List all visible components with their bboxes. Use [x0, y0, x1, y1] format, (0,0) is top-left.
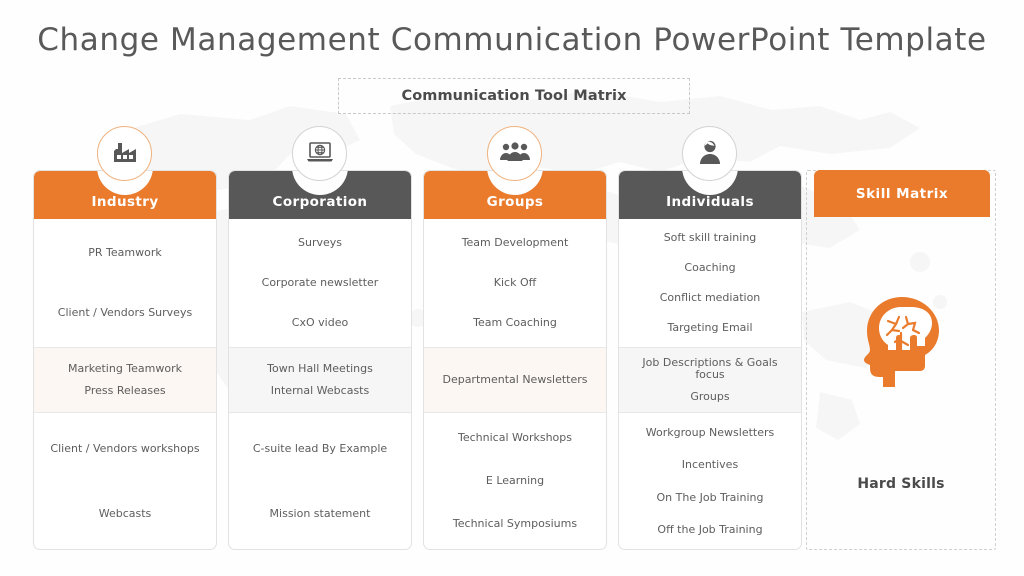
column-body: PR Teamwork Client / Vendors Surveys Mar… — [34, 219, 216, 550]
icon-circle-corporation[interactable] — [292, 126, 347, 181]
skill-matrix-footer: Hard Skills — [807, 476, 995, 492]
factory-icon — [112, 141, 138, 167]
list-item: PR Teamwork — [88, 247, 161, 259]
list-item: Team Development — [462, 237, 569, 249]
icon-circle-individuals[interactable] — [682, 126, 737, 181]
skill-matrix-header-label: Skill Matrix — [856, 186, 948, 202]
column-body: Soft skill training Coaching Conflict me… — [619, 219, 801, 550]
list-item: Client / Vendors Surveys — [58, 307, 192, 319]
subtitle-label: Communication Tool Matrix — [401, 88, 626, 104]
slide-canvas: Change Management Communication PowerPoi… — [0, 0, 1024, 576]
list-item: On The Job Training — [657, 492, 764, 504]
column-segment-top: Team Development Kick Off Team Coaching — [424, 219, 606, 347]
icon-circle-industry[interactable] — [97, 126, 152, 181]
list-item: Surveys — [298, 237, 342, 249]
group-people-icon — [500, 142, 530, 166]
list-item: Kick Off — [494, 277, 536, 289]
subtitle-box: Communication Tool Matrix — [338, 78, 690, 114]
column-header-label: Industry — [91, 194, 158, 210]
column-body: Team Development Kick Off Team Coaching … — [424, 219, 606, 550]
list-item: Off the Job Training — [657, 524, 762, 536]
head-brain-icon — [807, 293, 995, 389]
list-item: Mission statement — [270, 508, 371, 520]
column-individuals[interactable]: Individuals Soft skill training Coaching… — [618, 170, 802, 550]
list-item: Departmental Newsletters — [442, 374, 587, 386]
list-item: Client / Vendors workshops — [50, 443, 199, 455]
column-segment-highlight: Marketing Teamwork Press Releases — [34, 347, 216, 413]
column-segment-top: Surveys Corporate newsletter CxO video — [229, 219, 411, 347]
column-groups[interactable]: Groups Team Development Kick Off Team Co… — [423, 170, 607, 550]
list-item: C-suite lead By Example — [253, 443, 387, 455]
list-item: Conflict mediation — [660, 292, 761, 304]
column-industry[interactable]: Industry PR Teamwork Client / Vendors Su… — [33, 170, 217, 550]
list-item: Press Releases — [84, 385, 165, 397]
column-segment-highlight: Town Hall Meetings Internal Webcasts — [229, 347, 411, 413]
list-item: Technical Symposiums — [453, 518, 577, 530]
list-item: CxO video — [292, 317, 348, 329]
list-item: E Learning — [486, 475, 544, 487]
list-item: Targeting Email — [667, 322, 752, 334]
column-segment-top: PR Teamwork Client / Vendors Surveys — [34, 219, 216, 347]
laptop-globe-icon — [306, 141, 334, 167]
column-segment-bottom: Technical Workshops E Learning Technical… — [424, 413, 606, 550]
list-item: Groups — [690, 391, 729, 403]
person-icon — [699, 140, 721, 168]
column-corporation[interactable]: Corporation Surveys Corporate newsletter… — [228, 170, 412, 550]
list-item: Team Coaching — [473, 317, 557, 329]
list-item: Town Hall Meetings — [267, 363, 373, 375]
list-item: Corporate newsletter — [262, 277, 379, 289]
skill-matrix-header: Skill Matrix — [814, 170, 990, 217]
column-segment-bottom: Client / Vendors workshops Webcasts — [34, 413, 216, 550]
column-segment-bottom: C-suite lead By Example Mission statemen… — [229, 413, 411, 550]
list-item: Job Descriptions & Goals focus — [627, 357, 793, 381]
column-header-label: Corporation — [273, 194, 368, 210]
column-header-label: Individuals — [666, 194, 754, 210]
list-item: Marketing Teamwork — [68, 363, 182, 375]
skill-matrix-panel[interactable]: Skill Matrix Hard Skills — [806, 170, 996, 550]
list-item: Incentives — [682, 459, 738, 471]
list-item: Coaching — [684, 262, 735, 274]
list-item: Soft skill training — [664, 232, 757, 244]
column-segment-bottom: Workgroup Newsletters Incentives On The … — [619, 413, 801, 550]
column-segment-highlight: Job Descriptions & Goals focus Groups — [619, 347, 801, 413]
column-segment-highlight: Departmental Newsletters — [424, 347, 606, 413]
list-item: Technical Workshops — [458, 432, 572, 444]
list-item: Workgroup Newsletters — [646, 427, 775, 439]
icon-circle-groups[interactable] — [487, 126, 542, 181]
list-item: Webcasts — [99, 508, 152, 520]
list-item: Internal Webcasts — [271, 385, 369, 397]
page-title: Change Management Communication PowerPoi… — [0, 22, 1024, 58]
column-segment-top: Soft skill training Coaching Conflict me… — [619, 219, 801, 347]
column-header-label: Groups — [487, 194, 544, 210]
column-body: Surveys Corporate newsletter CxO video T… — [229, 219, 411, 550]
